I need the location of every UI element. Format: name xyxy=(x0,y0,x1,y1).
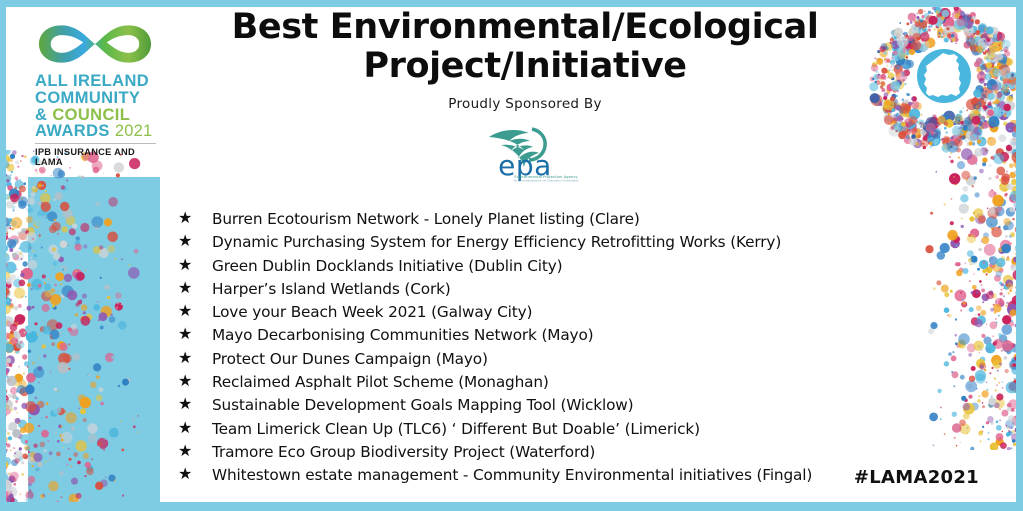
list-item: ★Sustainable Development Goals Mapping T… xyxy=(178,394,878,416)
star-bullet-icon: ★ xyxy=(178,418,212,440)
list-item-label: Love your Beach Week 2021 (Galway City) xyxy=(212,301,532,323)
awards-logo: ALL IRELAND COMMUNITY & COUNCIL AWARDS 2… xyxy=(30,18,160,168)
awards-logo-subtitle: IPB INSURANCE AND LAMA xyxy=(35,147,160,167)
border-strip-right xyxy=(1016,0,1023,511)
border-strip-top xyxy=(0,0,1023,7)
awards-logo-divider xyxy=(35,143,156,144)
star-bullet-icon: ★ xyxy=(178,278,212,300)
list-item-label: Reclaimed Asphalt Pilot Scheme (Monaghan… xyxy=(212,371,549,393)
page-title: Best Environmental/Ecological Project/In… xyxy=(175,8,875,86)
awards-logo-line3: & COUNCIL xyxy=(35,107,160,124)
list-item-label: Green Dublin Docklands Initiative (Dubli… xyxy=(212,255,562,277)
star-bullet-icon: ★ xyxy=(178,464,212,486)
ireland-map-icon xyxy=(869,4,1019,154)
list-item: ★Green Dublin Docklands Initiative (Dubl… xyxy=(178,255,878,277)
star-bullet-icon: ★ xyxy=(178,324,212,346)
star-bullet-icon: ★ xyxy=(178,231,212,253)
list-item: ★Whitestown estate management - Communit… xyxy=(178,464,878,486)
list-item: ★Harper’s Island Wetlands (Cork) xyxy=(178,278,878,300)
list-item-label: Tramore Eco Group Biodiversity Project (… xyxy=(212,441,595,463)
title-block: Best Environmental/Ecological Project/In… xyxy=(175,8,875,182)
hashtag-label: #LAMA2021 xyxy=(854,467,979,488)
epa-leaf-icon: epa Environmental Protection Agency An G… xyxy=(466,120,584,182)
list-item-label: Team Limerick Clean Up (TLC6) ‘ Differen… xyxy=(212,418,700,440)
infinity-icon xyxy=(36,18,154,70)
border-strip-left xyxy=(0,0,6,511)
confetti-right-decoration xyxy=(923,120,1023,450)
awards-logo-line1: ALL IRELAND xyxy=(35,73,160,90)
awards-logo-line2: COMMUNITY xyxy=(35,90,160,107)
star-bullet-icon: ★ xyxy=(178,394,212,416)
awards-logo-council: COUNCIL xyxy=(52,106,130,124)
list-item-label: Burren Ecotourism Network - Lonely Plane… xyxy=(212,208,640,230)
awards-logo-line4: AWARDS 2021 xyxy=(35,123,160,140)
list-item: ★Tramore Eco Group Biodiversity Project … xyxy=(178,441,878,463)
awards-logo-amp: & xyxy=(35,106,47,124)
awards-logo-year: 2021 xyxy=(115,122,153,140)
list-item: ★Love your Beach Week 2021 (Galway City) xyxy=(178,301,878,323)
star-bullet-icon: ★ xyxy=(178,371,212,393)
list-item-label: Mayo Decarbonising Communities Network (… xyxy=(212,324,593,346)
border-strip-bottom xyxy=(0,502,1023,511)
list-item: ★Protect Our Dunes Campaign (Mayo) xyxy=(178,348,878,370)
star-bullet-icon: ★ xyxy=(178,301,212,323)
star-bullet-icon: ★ xyxy=(178,441,212,463)
star-bullet-icon: ★ xyxy=(178,208,212,230)
list-item-label: Dynamic Purchasing System for Energy Eff… xyxy=(212,231,781,253)
list-item: ★Mayo Decarbonising Communities Network … xyxy=(178,324,878,346)
awards-logo-awards: AWARDS xyxy=(35,122,110,140)
list-item-label: Harper’s Island Wetlands (Cork) xyxy=(212,278,451,300)
list-item: ★Burren Ecotourism Network - Lonely Plan… xyxy=(178,208,878,230)
nominee-list: ★Burren Ecotourism Network - Lonely Plan… xyxy=(178,208,878,488)
list-item-label: Protect Our Dunes Campaign (Mayo) xyxy=(212,348,488,370)
sponsor-label: Proudly Sponsored By xyxy=(175,96,875,112)
epa-subtitle-ga: An Ghníomhaireacht um Chaomhnú Comhshaoi… xyxy=(514,179,579,183)
list-item-label: Sustainable Development Goals Mapping To… xyxy=(212,394,633,416)
award-poster: ALL IRELAND COMMUNITY & COUNCIL AWARDS 2… xyxy=(0,0,1023,511)
star-bullet-icon: ★ xyxy=(178,255,212,277)
list-item: ★Reclaimed Asphalt Pilot Scheme (Monagha… xyxy=(178,371,878,393)
list-item: ★Dynamic Purchasing System for Energy Ef… xyxy=(178,231,878,253)
star-bullet-icon: ★ xyxy=(178,348,212,370)
list-item-label: Whitestown estate management - Community… xyxy=(212,464,812,486)
list-item: ★Team Limerick Clean Up (TLC6) ‘ Differe… xyxy=(178,418,878,440)
